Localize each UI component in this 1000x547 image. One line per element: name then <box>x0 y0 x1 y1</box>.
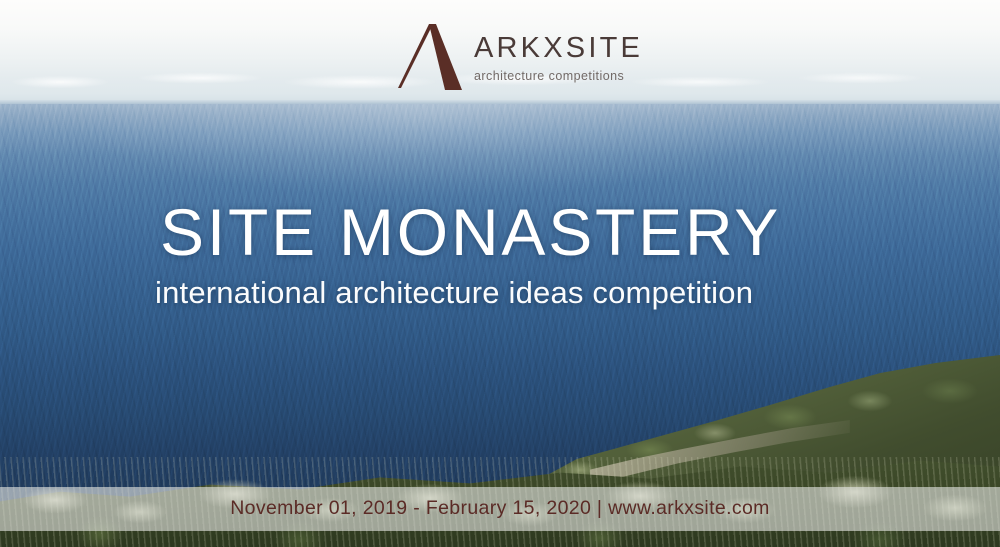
brand-tagline: architecture competitions <box>474 70 643 83</box>
poster-subtitle: international architecture ideas competi… <box>155 277 753 308</box>
brand-logo-text: ARKXSITE architecture competitions <box>474 30 643 83</box>
poster-title: SITE MONASTERY <box>160 199 781 265</box>
footer-band: November 01, 2019 - February 15, 2020 | … <box>0 487 1000 531</box>
brand-logo[interactable]: ARKXSITE architecture competitions <box>398 22 643 90</box>
poster-canvas: ARKXSITE architecture competitions SITE … <box>0 0 1000 547</box>
brand-name: ARKXSITE <box>474 34 643 63</box>
arkxsite-a-mark-icon <box>398 22 462 90</box>
footer-dates-and-website[interactable]: November 01, 2019 - February 15, 2020 | … <box>230 499 769 519</box>
